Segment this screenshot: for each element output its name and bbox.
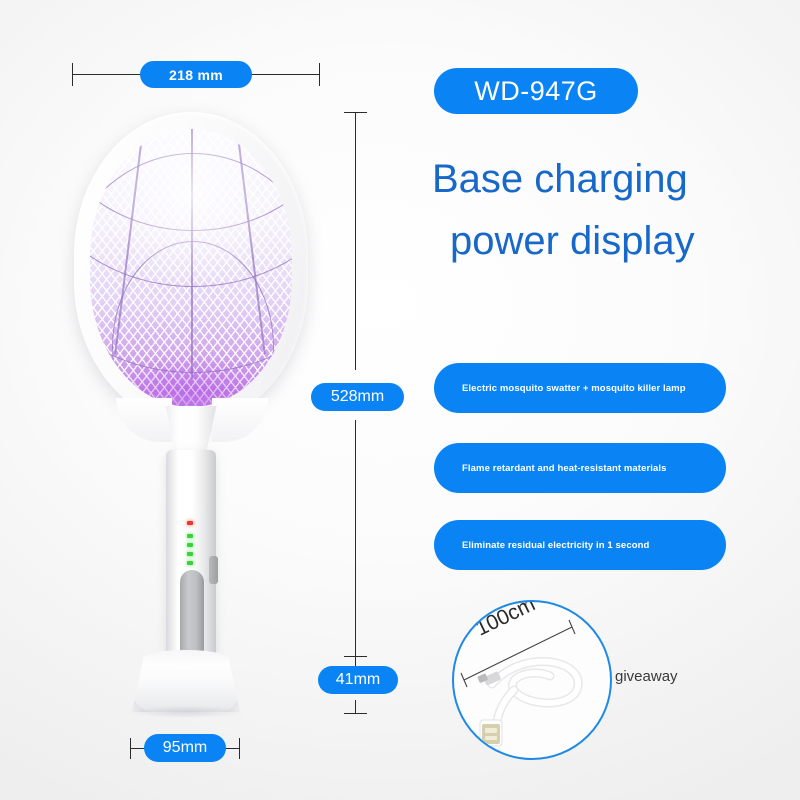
page-title: Base charging power display	[432, 148, 792, 272]
mesh-rib	[191, 129, 193, 379]
racket-shoulder-right	[212, 398, 268, 442]
model-badge: WD-947G	[434, 68, 638, 114]
led-indicator-green-4	[187, 561, 193, 565]
charging-base-top	[143, 650, 229, 668]
dimension-label-width-top: 218 mm	[140, 61, 252, 88]
dimension-tick-top	[344, 112, 367, 113]
headline-line-1: Base charging	[432, 157, 688, 201]
dimension-label-base-height: 41mm	[318, 666, 398, 694]
dimension-tick-bottom	[344, 713, 367, 714]
giveaway-cable-circle: 100cm	[452, 600, 612, 760]
racket-head	[74, 112, 308, 424]
dimension-label-height-total: 528mm	[311, 383, 404, 411]
feature-pill: Flame retardant and heat-resistant mater…	[434, 443, 726, 493]
dimension-label-base-width: 95mm	[144, 734, 226, 762]
dimension-line-height-upper	[355, 112, 356, 370]
mesh-arc	[112, 241, 274, 407]
mesh-arc	[90, 129, 292, 231]
led-indicator-green-1	[187, 534, 193, 538]
dimension-tick-left	[72, 63, 73, 86]
racket-shoulder-left	[116, 398, 172, 442]
dimension-line-base-lower	[355, 700, 356, 714]
mesh-arc	[90, 129, 292, 287]
racket-mesh-grid	[90, 129, 292, 407]
dimension-tick-base-right	[239, 738, 240, 759]
dimension-tick-base-left	[130, 738, 131, 759]
power-button	[209, 556, 218, 584]
mesh-arc	[90, 153, 292, 407]
feature-pill: Eliminate residual electricity in 1 seco…	[434, 520, 726, 570]
dimension-tick-right	[319, 63, 320, 86]
mesh-rib	[236, 130, 266, 355]
led-indicator-red	[187, 521, 193, 525]
base-shadow	[128, 706, 244, 718]
feature-pill: Electric mosquito swatter + mosquito kil…	[434, 363, 726, 413]
mesh-rib	[114, 130, 144, 355]
dimension-line-height-lower	[355, 420, 356, 656]
giveaway-label: giveaway	[615, 668, 678, 685]
led-indicator-green-3	[187, 552, 193, 556]
led-indicator-green-2	[187, 543, 193, 547]
mesh-arc	[90, 129, 292, 373]
headline-line-2: power display	[432, 210, 792, 272]
product-marketing-image: 218 mm 528mm 41mm 95mm WD-947G Base char…	[0, 0, 800, 800]
